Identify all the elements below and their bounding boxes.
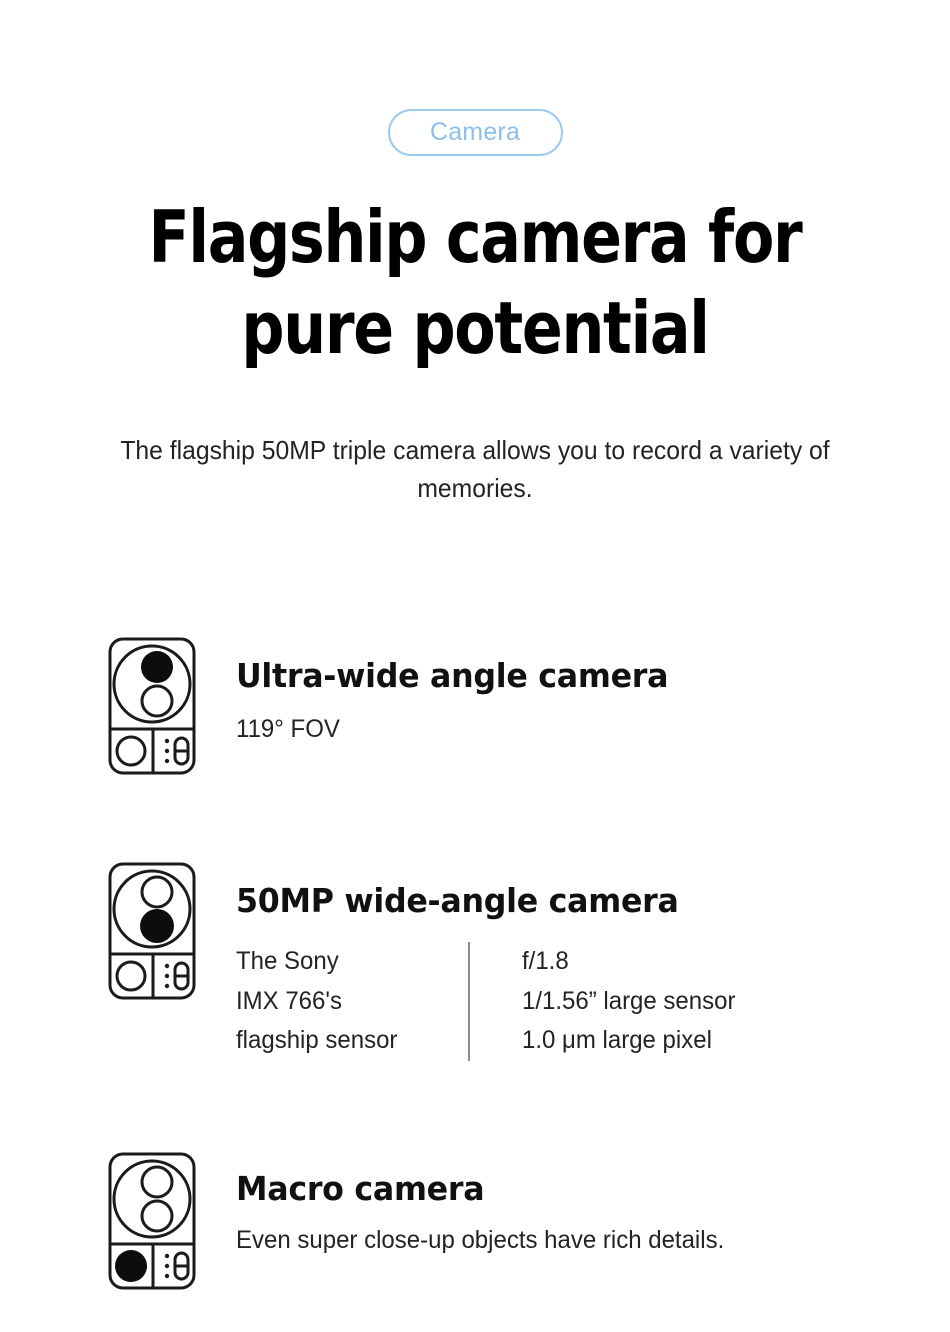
camera-feature-page: Camera Flagship camera for pure potentia… (0, 0, 950, 1332)
feature-text-wide-angle: 50MP wide-angle camera The Sony IMX 766'… (236, 853, 744, 1061)
camera-module-icon-wide (108, 853, 196, 1000)
feature-subtitle: Even super close-up objects have rich de… (236, 1226, 724, 1255)
spec-line: The Sony (236, 942, 459, 982)
feature-item-macro: Macro camera Even super close-up objects… (108, 1143, 745, 1290)
spec-line: 1/1.56” large sensor (522, 982, 735, 1022)
spec-line: f/1.8 (522, 942, 735, 982)
spec-columns: The Sony IMX 766's flagship sensor f/1.8… (236, 942, 744, 1061)
feature-title: Ultra-wide angle camera (236, 656, 668, 695)
feature-text-macro: Macro camera Even super close-up objects… (236, 1143, 745, 1255)
feature-subtitle: 119° FOV (236, 715, 668, 744)
spec-column-left: The Sony IMX 766's flagship sensor (236, 942, 459, 1061)
page-title: Flagship camera for pure potential (89, 192, 861, 375)
feature-title: Macro camera (236, 1169, 724, 1208)
camera-module-icon-ultrawide (108, 628, 196, 775)
feature-text-ultra-wide: Ultra-wide angle camera 119° FOV (236, 628, 686, 744)
spec-line: 1.0 μm large pixel (522, 1021, 735, 1061)
camera-module-icon-macro (108, 1143, 196, 1290)
feature-item-ultra-wide: Ultra-wide angle camera 119° FOV (108, 628, 686, 775)
badge-row: Camera (0, 109, 950, 156)
spec-divider (468, 942, 470, 1061)
page-subtitle: The flagship 50MP triple camera allows y… (95, 432, 855, 507)
spec-column-right: f/1.8 1/1.56” large sensor 1.0 μm large … (522, 942, 735, 1061)
spec-line: flagship sensor (236, 1021, 459, 1061)
feature-title: 50MP wide-angle camera (236, 881, 724, 920)
section-badge-camera: Camera (388, 109, 563, 156)
spec-line: IMX 766's (236, 982, 459, 1022)
feature-item-wide-angle: 50MP wide-angle camera The Sony IMX 766'… (108, 853, 744, 1061)
